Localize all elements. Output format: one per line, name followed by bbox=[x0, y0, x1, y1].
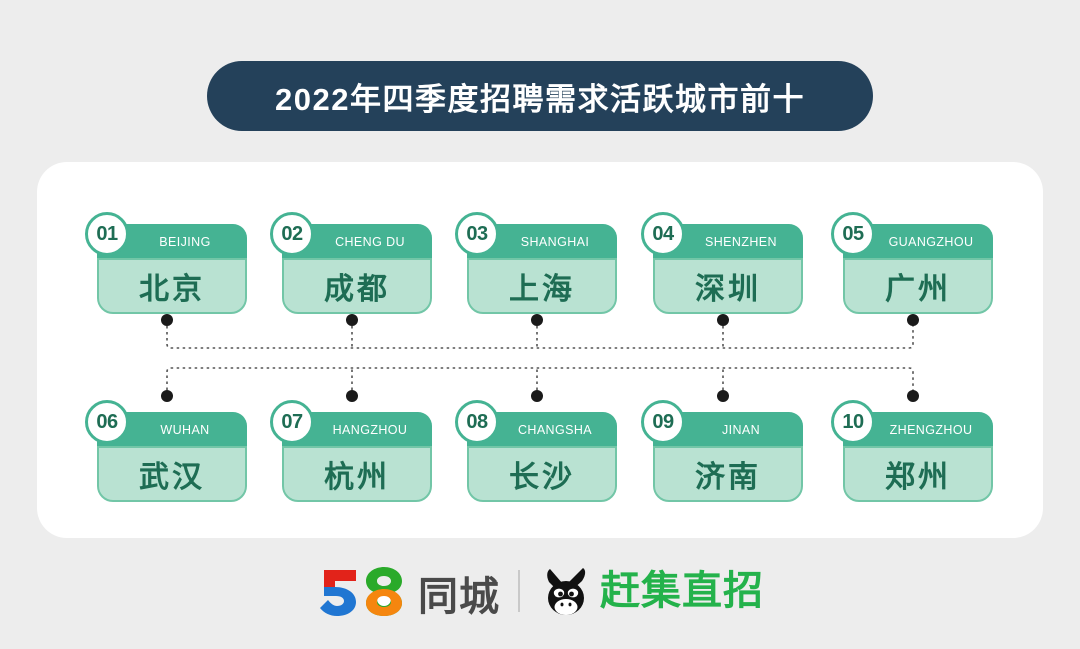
city-card-slot-7: HANGZHOU 杭州 07 bbox=[272, 398, 432, 502]
city-card-guangzhou[interactable]: GUANGZHOU 广州 05 bbox=[843, 224, 993, 314]
rank-number: 06 bbox=[96, 411, 117, 434]
city-card-body: 杭州 bbox=[282, 446, 432, 502]
footer-branding: 同城 赶集直招 bbox=[0, 556, 1080, 626]
city-card-body: 武汉 bbox=[97, 446, 247, 502]
rank-badge: 10 bbox=[831, 400, 875, 444]
city-card-slot-8: CHANGSHA 长沙 08 bbox=[457, 398, 617, 502]
logo-58-wordmark: 同城 bbox=[418, 577, 500, 617]
city-chinese-name: 广州 bbox=[885, 264, 951, 308]
city-english-name: WUHAN bbox=[160, 423, 209, 437]
city-card-body: 长沙 bbox=[467, 446, 617, 502]
rank-number: 10 bbox=[842, 411, 863, 434]
city-row-bottom: WUHAN 武汉 06 HANGZHOU 杭州 07 bbox=[37, 398, 1043, 502]
rank-badge: 03 bbox=[455, 212, 499, 256]
city-chinese-name: 郑州 bbox=[885, 452, 951, 496]
rank-badge: 04 bbox=[641, 212, 685, 256]
city-card-slot-6: WUHAN 武汉 06 bbox=[87, 398, 247, 502]
city-card-body: 成都 bbox=[282, 258, 432, 314]
city-card-chengdu[interactable]: CHENG DU 成都 02 bbox=[282, 224, 432, 314]
city-english-name: BEIJING bbox=[159, 235, 210, 249]
city-card-body: 济南 bbox=[653, 446, 803, 502]
city-card-shenzhen[interactable]: SHENZHEN 深圳 04 bbox=[653, 224, 803, 314]
page-title: 2022年四季度招聘需求活跃城市前十 bbox=[275, 74, 805, 119]
city-card-wuhan[interactable]: WUHAN 武汉 06 bbox=[97, 412, 247, 502]
city-english-name: JINAN bbox=[722, 423, 760, 437]
rank-number: 01 bbox=[96, 223, 117, 246]
city-row-top: BEIJING 北京 01 CHENG DU 成都 02 bbox=[37, 210, 1043, 314]
rank-number: 03 bbox=[466, 223, 487, 246]
city-english-name: HANGZHOU bbox=[333, 423, 408, 437]
donkey-head-icon bbox=[538, 565, 594, 617]
logo-divider bbox=[518, 570, 520, 612]
city-english-name: CHANGSHA bbox=[518, 423, 592, 437]
rank-badge: 05 bbox=[831, 212, 875, 256]
rank-number: 05 bbox=[842, 223, 863, 246]
city-chinese-name: 深圳 bbox=[695, 264, 761, 308]
city-card-jinan[interactable]: JINAN 济南 09 bbox=[653, 412, 803, 502]
logo-58-mark: 同城 bbox=[316, 565, 500, 617]
city-card-slot-5: GUANGZHOU 广州 05 bbox=[833, 210, 993, 314]
page-title-pill: 2022年四季度招聘需求活跃城市前十 bbox=[207, 61, 873, 131]
city-card-zhengzhou[interactable]: ZHENGZHOU 郑州 10 bbox=[843, 412, 993, 502]
city-card-hangzhou[interactable]: HANGZHOU 杭州 07 bbox=[282, 412, 432, 502]
city-chinese-name: 杭州 bbox=[324, 452, 390, 496]
rank-badge: 07 bbox=[270, 400, 314, 444]
city-chinese-name: 济南 bbox=[695, 452, 761, 496]
city-chinese-name: 上海 bbox=[509, 264, 575, 308]
city-card-body: 上海 bbox=[467, 258, 617, 314]
rank-badge: 06 bbox=[85, 400, 129, 444]
city-card-slot-9: JINAN 济南 09 bbox=[643, 398, 803, 502]
city-card-slot-2: CHENG DU 成都 02 bbox=[272, 210, 432, 314]
city-card-beijing[interactable]: BEIJING 北京 01 bbox=[97, 224, 247, 314]
rank-number: 07 bbox=[281, 411, 302, 434]
rank-badge: 02 bbox=[270, 212, 314, 256]
city-chinese-name: 武汉 bbox=[139, 452, 205, 496]
rank-number: 04 bbox=[652, 223, 673, 246]
city-english-name: ZHENGZHOU bbox=[890, 423, 973, 437]
rank-badge: 08 bbox=[455, 400, 499, 444]
city-card-slot-10: ZHENGZHOU 郑州 10 bbox=[833, 398, 993, 502]
city-card-body: 北京 bbox=[97, 258, 247, 314]
city-chinese-name: 北京 bbox=[139, 264, 205, 308]
city-english-name: SHENZHEN bbox=[705, 235, 777, 249]
city-ranking-panel: BEIJING 北京 01 CHENG DU 成都 02 bbox=[37, 162, 1043, 538]
city-card-body: 深圳 bbox=[653, 258, 803, 314]
city-chinese-name: 成都 bbox=[324, 264, 390, 308]
rank-number: 08 bbox=[466, 411, 487, 434]
city-chinese-name: 长沙 bbox=[509, 452, 575, 496]
city-card-slot-4: SHENZHEN 深圳 04 bbox=[643, 210, 803, 314]
city-english-name: GUANGZHOU bbox=[889, 235, 974, 249]
city-card-slot-1: BEIJING 北京 01 bbox=[87, 210, 247, 314]
city-card-shanghai[interactable]: SHANGHAI 上海 03 bbox=[467, 224, 617, 314]
five-eight-digits-icon bbox=[316, 565, 412, 617]
city-card-slot-3: SHANGHAI 上海 03 bbox=[457, 210, 617, 314]
city-card-body: 广州 bbox=[843, 258, 993, 314]
rank-badge: 01 bbox=[85, 212, 129, 256]
connector-diagram bbox=[37, 314, 1043, 402]
city-english-name: SHANGHAI bbox=[521, 235, 590, 249]
city-card-changsha[interactable]: CHANGSHA 长沙 08 bbox=[467, 412, 617, 502]
city-card-body: 郑州 bbox=[843, 446, 993, 502]
rank-number: 02 bbox=[281, 223, 302, 246]
logo-ganji-wordmark: 赶集直招 bbox=[600, 571, 764, 611]
rank-badge: 09 bbox=[641, 400, 685, 444]
city-english-name: CHENG DU bbox=[335, 235, 405, 249]
rank-number: 09 bbox=[652, 411, 673, 434]
